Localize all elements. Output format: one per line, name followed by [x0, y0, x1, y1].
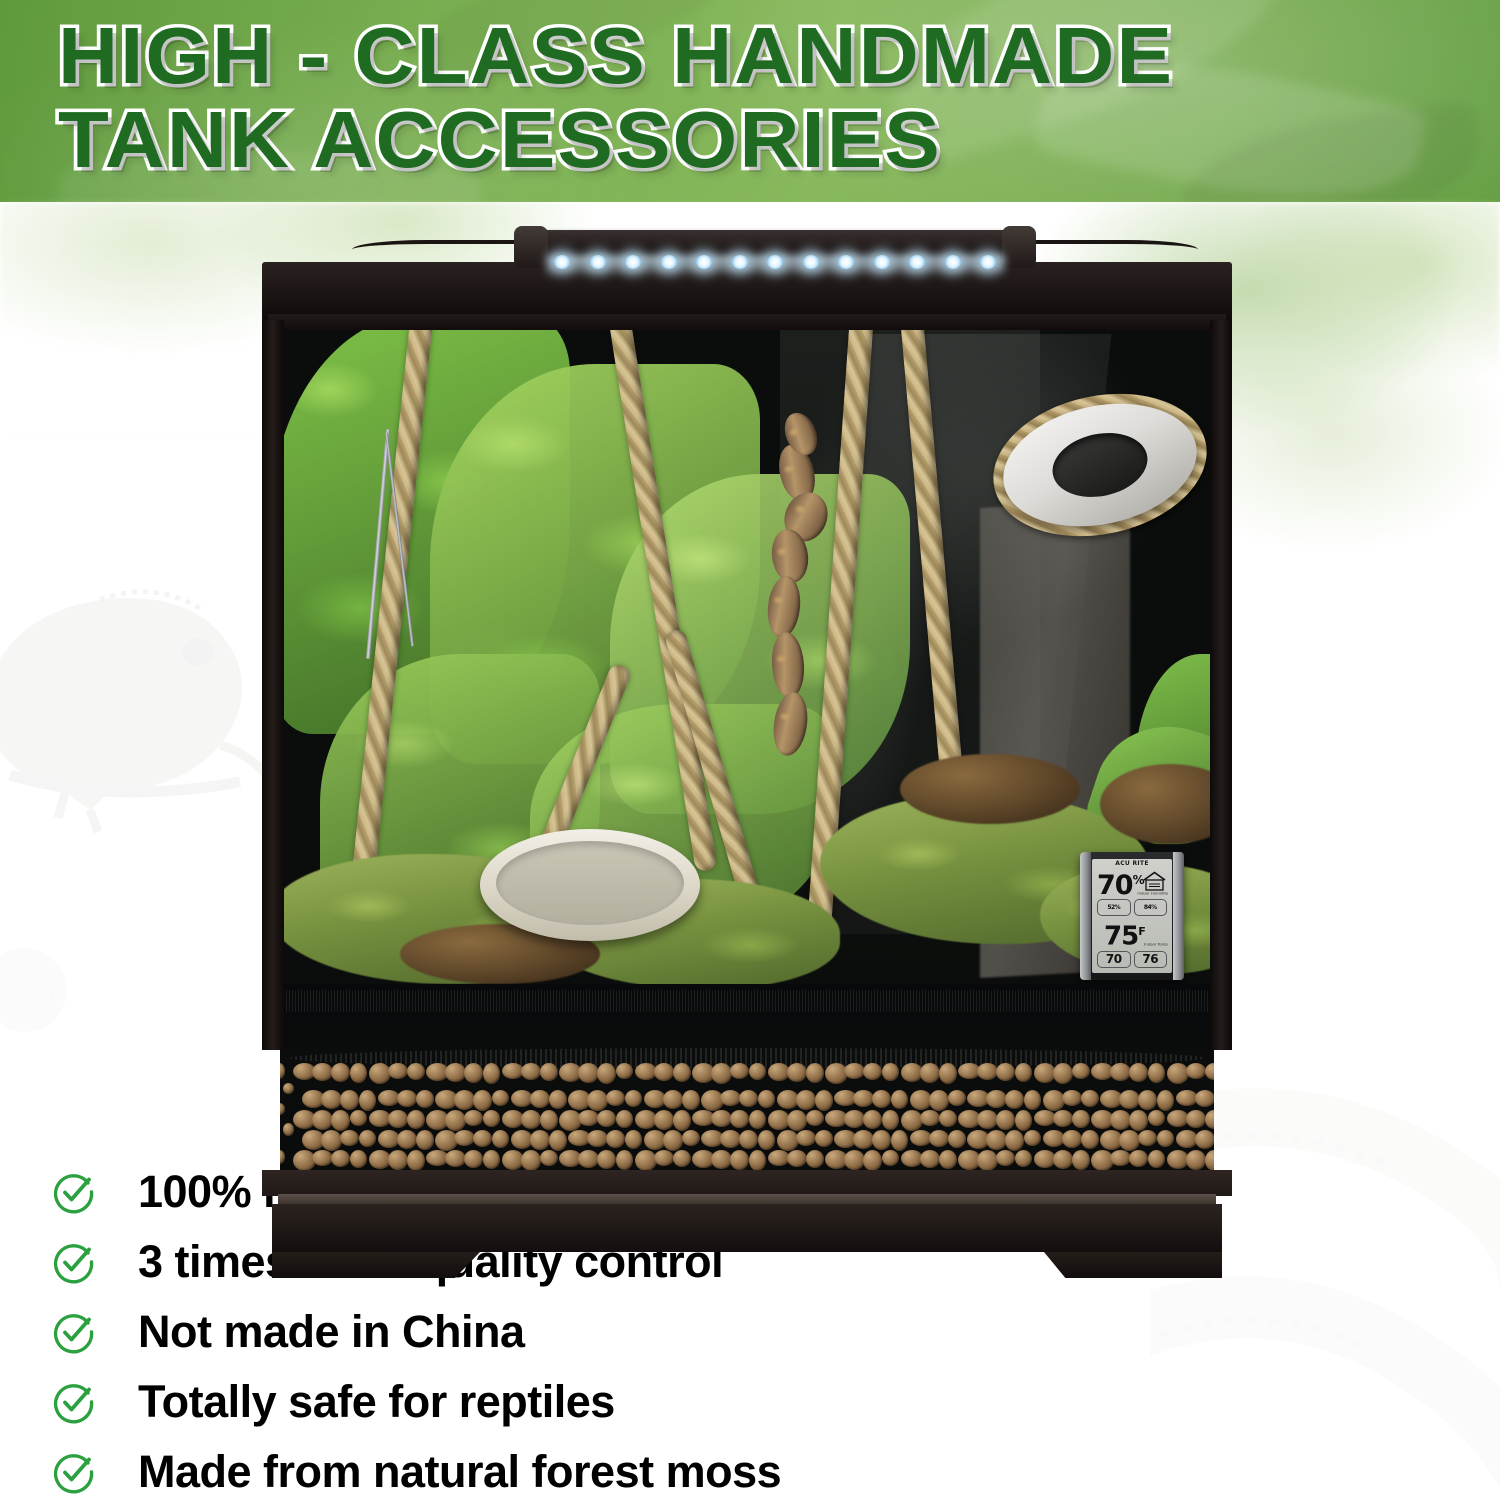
base-foot-right: [1044, 1252, 1222, 1278]
leca-pebble: [483, 1150, 500, 1169]
leca-pebble: [920, 1063, 940, 1083]
leca-pebble: [1072, 1150, 1090, 1170]
leca-pebble: [454, 1130, 475, 1146]
leca-pebble: [1053, 1150, 1073, 1169]
leca-pebble: [986, 1130, 1007, 1150]
list-item: Totally safe for reptiles: [52, 1368, 1052, 1436]
leca-pebble: [853, 1090, 874, 1107]
temperature-label: Indoor Temp: [1144, 943, 1168, 947]
feature-label: Made from natural forest moss: [138, 1448, 781, 1496]
leca-pebble: [1205, 1063, 1214, 1080]
leca-pebble: [616, 1063, 633, 1079]
leca-pebble: [473, 1090, 492, 1111]
leca-pebble: [312, 1150, 333, 1166]
thermometer-screen: ACU RITE 70% Indoor Humidity 52% 84%: [1092, 859, 1172, 973]
leca-pebble: [1015, 1110, 1032, 1131]
leca-pebble: [996, 1110, 1015, 1130]
leca-pebble: [749, 1110, 766, 1129]
leca-pebble: [654, 1063, 674, 1081]
check-circle-icon: [52, 1450, 96, 1494]
leca-pebble: [416, 1130, 434, 1150]
leca-pebble: [673, 1063, 691, 1082]
light-bar-end-cap: [1002, 226, 1036, 268]
leca-pebble: [454, 1090, 475, 1110]
leca-pebble: [521, 1063, 541, 1080]
leca-pebble: [844, 1063, 865, 1079]
leca-pebble: [1195, 1130, 1214, 1149]
leca-pebble: [711, 1063, 732, 1084]
leca-pebble: [1053, 1063, 1073, 1084]
leca-pebble: [1205, 1110, 1214, 1129]
leca-pebble: [597, 1150, 616, 1169]
leca-pebble: [1186, 1150, 1206, 1170]
leca-pebble: [996, 1063, 1015, 1081]
leca-pebble: [1062, 1090, 1082, 1106]
temperature-high-box: 76: [1134, 951, 1168, 968]
leca-pebble: [597, 1110, 616, 1127]
temperature-reading: 75F: [1104, 919, 1145, 950]
humidity-low-box: 52%: [1097, 899, 1131, 916]
leca-pebble: [815, 1090, 833, 1111]
led-bulb: [554, 255, 570, 269]
humidity-hilo-row: 52% 84%: [1097, 899, 1167, 916]
leca-pebble: [407, 1150, 425, 1171]
leca-pebble: [606, 1130, 625, 1148]
base-body: [272, 1204, 1222, 1252]
leca-pebble: [929, 1090, 949, 1111]
leca-pebble: [473, 1130, 492, 1147]
temperature-hilo-row: 70 76: [1097, 951, 1167, 968]
digital-thermometer-hygrometer[interactable]: ACU RITE 70% Indoor Humidity 52% 84%: [1080, 852, 1184, 980]
leca-pebble: [787, 1110, 807, 1131]
leca-pebble: [891, 1130, 908, 1151]
leca-pebble: [1081, 1090, 1099, 1107]
leca-pebble: [606, 1090, 625, 1106]
humidity-value: 70: [1097, 870, 1133, 901]
leca-pebble: [1110, 1110, 1131, 1130]
leca-pebble: [1062, 1130, 1082, 1148]
leca-pebble: [663, 1090, 683, 1109]
leca-pebble: [1005, 1130, 1024, 1151]
leca-pebble: [749, 1063, 766, 1080]
leca-pebble: [920, 1150, 940, 1168]
leca-pebble: [578, 1150, 599, 1168]
leca-pebble: [1053, 1110, 1073, 1127]
leca-pebble: [882, 1150, 899, 1166]
power-cord: [1018, 240, 1198, 264]
leca-pebble: [758, 1130, 775, 1150]
leca-pebble: [483, 1063, 500, 1084]
headline-text: HIGH - CLASS HANDMADE TANK ACCESSORIES: [58, 14, 1348, 182]
leca-pebble: [445, 1063, 466, 1082]
led-row: [554, 254, 996, 270]
leca-pebble: [1129, 1150, 1148, 1167]
leca-pebble: [350, 1063, 367, 1083]
leca-pebble: [654, 1110, 674, 1130]
check-circle-icon: [52, 1170, 96, 1214]
temperature-value: 75: [1104, 922, 1138, 952]
leca-pebble: [397, 1130, 417, 1149]
leca-pebble: [730, 1063, 749, 1079]
leca-pebble: [350, 1110, 367, 1126]
leca-pebble: [872, 1130, 891, 1150]
house-icon: [1142, 871, 1167, 891]
leca-pebble: [625, 1090, 642, 1107]
leca-pebble: [540, 1063, 558, 1081]
leca-pebble: [521, 1110, 541, 1129]
check-circle-icon: [52, 1380, 96, 1424]
leca-pebble: [1119, 1130, 1140, 1151]
leca-pebble: [929, 1130, 949, 1147]
led-bulb: [625, 255, 641, 269]
leca-pebble: [1186, 1063, 1206, 1079]
leca-pebble: [977, 1110, 998, 1129]
leca-pebble: [280, 1063, 285, 1079]
leca-pebble: [977, 1063, 998, 1080]
leca-pebble: [758, 1090, 775, 1108]
leca-pebble: [939, 1150, 957, 1169]
humidity-high-box: 84%: [1134, 899, 1168, 916]
leca-pebble: [1024, 1130, 1041, 1146]
tank-hood-lip: [268, 314, 1226, 330]
leca-pebble: [720, 1130, 741, 1148]
leca-pebble: [749, 1150, 766, 1171]
leca-pebble: [388, 1110, 408, 1128]
thermometer-bezel: [1080, 852, 1091, 980]
leca-pebble: [530, 1090, 550, 1108]
leca-pebble: [540, 1110, 558, 1130]
leca-pebble: [1148, 1063, 1165, 1083]
leca-pebble: [882, 1063, 899, 1081]
leca-pebble: [1186, 1110, 1206, 1128]
led-bulb: [838, 255, 854, 269]
leca-pebble: [806, 1063, 824, 1083]
leca-pebble: [280, 1150, 285, 1164]
leca-pebble: [844, 1150, 865, 1170]
leca-pebble: [682, 1130, 700, 1146]
leca-pebble: [388, 1063, 408, 1079]
leca-pebble: [331, 1150, 350, 1167]
leca-pebble: [587, 1130, 608, 1147]
leca-pebble: [331, 1063, 350, 1082]
terrarium-tank: ACU RITE 70% Indoor Humidity 52% 84%: [262, 262, 1232, 1152]
leca-pebble: [1157, 1090, 1174, 1111]
tank-frame-right: [1210, 320, 1232, 1050]
thermometer-bezel: [1173, 852, 1184, 980]
leca-pebble: [1157, 1130, 1174, 1147]
leca-pebble: [920, 1110, 940, 1126]
base-top-rail: [262, 1170, 1232, 1196]
leca-pebble: [1081, 1130, 1099, 1149]
leca-pebble: [350, 1150, 367, 1168]
leca-pebble: [939, 1110, 957, 1127]
leca-pebble: [407, 1063, 425, 1080]
led-bulb: [945, 255, 961, 269]
leca-pebble: [549, 1130, 567, 1151]
leca-pebble: [1024, 1090, 1041, 1110]
leca-pebble: [996, 1150, 1015, 1166]
leca-drainage-pebbles: [280, 1060, 1214, 1172]
leca-pebble: [445, 1110, 466, 1131]
leca-pebble: [673, 1150, 691, 1167]
leca-pebble: [872, 1090, 891, 1108]
leca-pebble: [578, 1063, 599, 1083]
leca-pebble: [1129, 1063, 1148, 1082]
leca-pebble: [1005, 1090, 1024, 1109]
leca-pebble: [1119, 1090, 1140, 1109]
leca-pebble: [844, 1110, 865, 1128]
leca-pebble: [616, 1150, 633, 1170]
leca-pebble: [1129, 1110, 1148, 1131]
feature-label: Not made in China: [138, 1308, 525, 1356]
tank-base-stand: [262, 1170, 1232, 1268]
leca-pebble: [1195, 1090, 1214, 1107]
leca-pebble: [796, 1090, 816, 1110]
leca-pebble: [939, 1063, 957, 1084]
leca-pebble: [280, 1103, 285, 1115]
drainage-layer-viewport: [280, 984, 1214, 1172]
leca-pebble: [416, 1090, 434, 1108]
leca-pebble: [739, 1130, 758, 1149]
header-banner: HIGH - CLASS HANDMADE TANK ACCESSORIES: [0, 0, 1500, 202]
leca-pebble: [863, 1110, 882, 1129]
humidity-label: Indoor Humidity: [1137, 892, 1168, 896]
humidity-low-unit: %: [1115, 904, 1121, 911]
product-marketing-image: HIGH - CLASS HANDMADE TANK ACCESSORIES: [0, 0, 1500, 1500]
leca-pebble: [815, 1130, 833, 1147]
leca-pebble: [739, 1090, 758, 1107]
leca-pebble: [625, 1130, 642, 1149]
led-bulb: [590, 255, 606, 269]
temperature-low-box: 70: [1097, 951, 1131, 968]
leca-pebble: [312, 1110, 333, 1130]
leca-pebble: [806, 1150, 824, 1168]
acurite-brand-label: ACU RITE: [1092, 860, 1172, 867]
list-item: Not made in China: [52, 1298, 1052, 1366]
leca-pebble: [806, 1110, 824, 1126]
base-foot-left: [272, 1252, 480, 1278]
tank-glass-viewport: ACU RITE 70% Indoor Humidity 52% 84%: [280, 324, 1214, 984]
leca-pebble: [787, 1063, 807, 1082]
humidity-high-unit: %: [1151, 904, 1157, 911]
water-bowl-inner: [496, 841, 684, 925]
check-circle-icon: [52, 1310, 96, 1354]
leca-pebble: [663, 1130, 683, 1151]
leca-pebble: [464, 1063, 483, 1083]
leca-pebble: [720, 1090, 741, 1106]
led-bulb: [874, 255, 890, 269]
leca-pebble: [730, 1110, 749, 1128]
led-bulb: [909, 255, 925, 269]
leca-pebble: [863, 1063, 882, 1080]
leca-pebble: [682, 1090, 700, 1110]
led-bulb: [767, 255, 783, 269]
leca-pebble: [730, 1150, 749, 1170]
leca-pebble: [312, 1063, 333, 1081]
leca-pebble: [673, 1110, 691, 1131]
leca-pebble: [616, 1110, 633, 1128]
leca-pebble: [331, 1110, 350, 1131]
leca-pebble: [1148, 1110, 1165, 1126]
leca-pebble: [283, 1083, 294, 1094]
leca-pebble: [540, 1150, 558, 1166]
leca-pebble: [521, 1150, 541, 1171]
leca-pebble: [492, 1090, 509, 1106]
leca-pebble: [787, 1150, 807, 1167]
leca-pebble: [340, 1130, 359, 1146]
light-bar-end-cap: [514, 226, 548, 268]
leca-pebble: [654, 1150, 674, 1166]
leca-pebble: [359, 1130, 376, 1147]
leca-pebble: [891, 1090, 908, 1109]
temperature-unit: F: [1138, 925, 1145, 938]
leca-pebble: [1072, 1110, 1090, 1128]
leca-pebble: [711, 1110, 732, 1127]
leca-pebble: [445, 1150, 466, 1167]
leca-pebble: [321, 1090, 342, 1109]
led-bulb: [980, 255, 996, 269]
tank-frame-left: [262, 320, 284, 1050]
leca-pebble: [578, 1110, 599, 1126]
shell-watermark: [0, 945, 70, 1035]
leca-pebble: [1110, 1150, 1131, 1166]
leca-pebble: [397, 1090, 417, 1107]
leca-pebble: [853, 1130, 874, 1149]
feature-label: Totally safe for reptiles: [138, 1378, 615, 1426]
humidity-low-value: 52: [1107, 904, 1114, 911]
leca-pebble: [948, 1130, 966, 1148]
leca-pebble: [1072, 1063, 1090, 1079]
water-bowl: [480, 829, 700, 941]
leca-pebble: [464, 1110, 483, 1126]
leca-pebble: [977, 1150, 998, 1171]
led-bulb: [696, 255, 712, 269]
leca-pebble: [1148, 1150, 1165, 1168]
chameleon-watermark: [0, 560, 300, 860]
led-bulb: [732, 255, 748, 269]
leca-pebble: [587, 1090, 608, 1111]
check-circle-icon: [52, 1240, 96, 1284]
leca-pebble: [882, 1110, 899, 1130]
leca-pebble: [407, 1110, 425, 1129]
led-light-bar[interactable]: [530, 230, 1020, 264]
ventilation-strip: [280, 990, 1214, 1012]
leca-pebble: [1138, 1130, 1157, 1146]
leca-pebble: [530, 1130, 550, 1150]
list-item: Made from natural forest moss: [52, 1438, 1052, 1500]
leca-pebble: [1205, 1150, 1214, 1171]
leca-pebble: [948, 1090, 966, 1106]
leca-pebble: [549, 1090, 567, 1109]
leca-pebble: [796, 1130, 816, 1146]
leca-pebble: [1015, 1150, 1032, 1167]
coco-substrate: [900, 754, 1080, 824]
leca-pebble: [388, 1150, 408, 1170]
leca-pebble: [1015, 1063, 1032, 1082]
leca-pebble: [711, 1150, 732, 1169]
leca-pebble: [986, 1090, 1007, 1108]
leca-pebble: [597, 1063, 616, 1084]
leca-pebble: [340, 1090, 359, 1110]
leca-pebble: [483, 1110, 500, 1127]
leca-pebble: [359, 1090, 376, 1111]
led-bulb: [803, 255, 819, 269]
leca-pebble: [492, 1130, 509, 1148]
leca-pebble: [1110, 1063, 1131, 1081]
leca-pebble: [1138, 1090, 1157, 1110]
leca-pebble: [863, 1150, 882, 1171]
leca-pebble: [464, 1150, 483, 1168]
led-bulb: [661, 255, 677, 269]
leca-pebble: [321, 1130, 342, 1151]
leca-pebble: [283, 1123, 294, 1136]
